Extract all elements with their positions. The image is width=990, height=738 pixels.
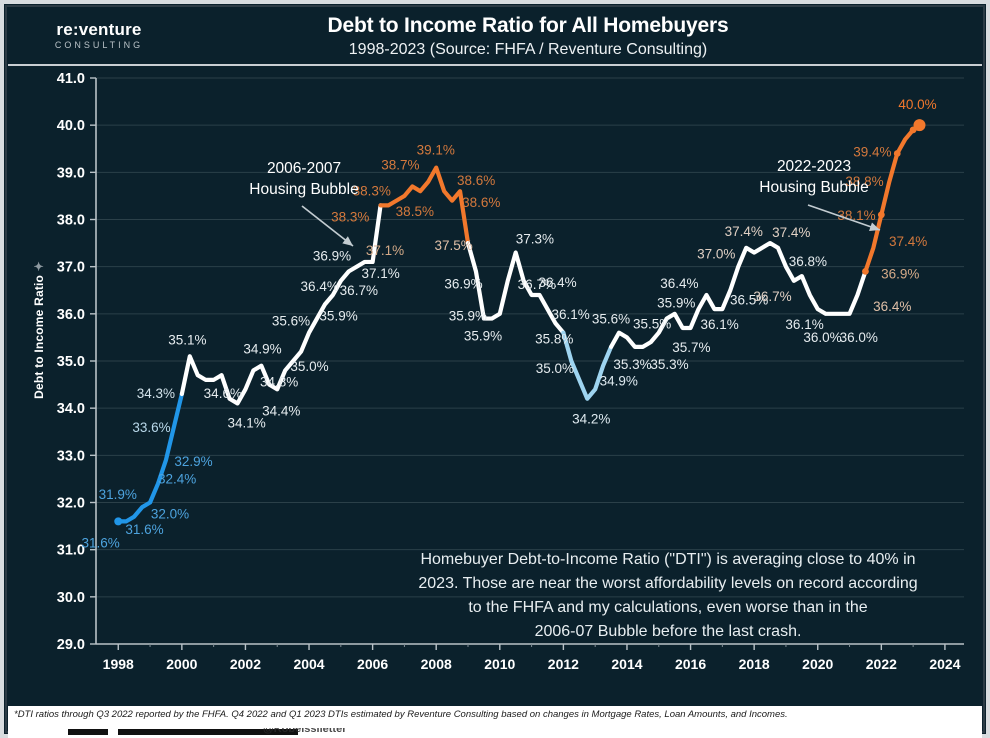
data-point-label: 37.4% xyxy=(889,234,927,249)
y-axis-tick-label: 33.0 xyxy=(57,448,85,464)
data-point-label: 36.1% xyxy=(552,307,590,322)
data-point-label: 36.7% xyxy=(340,283,378,298)
y-axis-tick-label: 38.0 xyxy=(57,213,85,229)
data-point-label: 31.6% xyxy=(125,522,163,537)
data-point-label: 35.0% xyxy=(536,361,574,376)
data-point-label: 36.4% xyxy=(873,299,911,314)
data-point-label: 36.9% xyxy=(881,266,919,281)
data-point-label: 32.4% xyxy=(158,472,196,487)
footnote: *DTI ratios through Q3 2022 reported by … xyxy=(8,706,982,730)
data-point-marker xyxy=(894,150,901,157)
data-point-label: 39.4% xyxy=(853,144,891,159)
data-point-label: 35.3% xyxy=(650,357,688,372)
data-point-label: 35.9% xyxy=(319,309,357,324)
y-axis-tick-label: 41.0 xyxy=(57,71,85,87)
data-point-label: 38.5% xyxy=(396,204,434,219)
data-point-label: 36.4% xyxy=(301,279,339,294)
chart-screenshot: re:venture CONSULTING Debt to Income Rat… xyxy=(0,0,990,738)
data-point-label: 35.9% xyxy=(464,329,502,344)
x-axis-tick-label: 2018 xyxy=(739,656,770,672)
title-block: Debt to Income Ratio for All Homebuyers … xyxy=(178,14,878,60)
x-axis-tick-label: 1998 xyxy=(103,656,134,672)
data-point-label: 35.3% xyxy=(613,357,651,372)
callout-line: 2006-07 Bubble before the last crash. xyxy=(535,623,802,640)
data-point-label: 34.4% xyxy=(262,403,300,418)
logo-tagline: CONSULTING xyxy=(24,41,174,50)
x-axis-tick-label: 2004 xyxy=(293,656,324,672)
data-point-label: 36.9% xyxy=(313,248,351,263)
x-axis-tick-label: 2024 xyxy=(929,656,960,672)
y-axis-tick-label: 30.0 xyxy=(57,590,85,606)
x-axis-tick-label: 2016 xyxy=(675,656,706,672)
y-axis-tick-label: 32.0 xyxy=(57,496,85,512)
data-point-label: 38.6% xyxy=(462,195,500,210)
plot-area: Debt to Income Ratio ✦ 29.030.031.032.03… xyxy=(8,68,982,702)
bottom-partial-strip: @Kobeissiletter xyxy=(8,728,982,738)
data-point-label: 37.1% xyxy=(362,266,400,281)
data-point-label: 35.6% xyxy=(272,314,310,329)
data-point-label: 36.1% xyxy=(701,317,739,332)
data-point-label: 39.1% xyxy=(417,143,455,158)
data-point-label: 37.4% xyxy=(725,224,763,239)
chart-canvas: 29.030.031.032.033.034.035.036.037.038.0… xyxy=(8,68,982,702)
data-point-label: 38.6% xyxy=(457,173,495,188)
data-point-label: 36.0% xyxy=(803,330,841,345)
data-point-label: 33.6% xyxy=(132,420,170,435)
page-subtitle: 1998-2023 (Source: FHFA / Reventure Cons… xyxy=(178,41,878,59)
x-axis-tick-label: 2010 xyxy=(484,656,515,672)
annotation-label-bubble-2022-2: Housing Bubble xyxy=(759,179,868,196)
callout-line: Homebuyer Debt-to-Income Ratio ("DTI") i… xyxy=(420,551,915,568)
y-axis-tick-label: 29.0 xyxy=(57,637,85,653)
data-point-label: 34.6% xyxy=(204,386,242,401)
y-axis-tick-label: 39.0 xyxy=(57,165,85,181)
data-point-label: 36.8% xyxy=(789,254,827,269)
data-point-label: 34.8% xyxy=(260,374,298,389)
data-point-label: 35.9% xyxy=(449,309,487,324)
data-point-label: 31.6% xyxy=(82,535,120,550)
data-point-label: 34.9% xyxy=(600,374,638,389)
callout-line: 2023. Those are near the worst affordabi… xyxy=(418,575,917,592)
data-point-label: 36.4% xyxy=(660,276,698,291)
data-point-marker xyxy=(862,268,869,275)
data-point-label: 35.6% xyxy=(592,312,630,327)
y-axis-tick-label: 40.0 xyxy=(57,118,85,134)
start-point-marker xyxy=(114,517,122,525)
x-axis-tick-label: 2022 xyxy=(866,656,897,672)
y-axis-tick-label: 37.0 xyxy=(57,260,85,276)
chart-header: re:venture CONSULTING Debt to Income Rat… xyxy=(8,8,982,66)
data-point-label: 36.4% xyxy=(538,275,576,290)
x-axis-tick-label: 2012 xyxy=(548,656,579,672)
page-title: Debt to Income Ratio for All Homebuyers xyxy=(178,14,878,38)
x-axis-tick-label: 2006 xyxy=(357,656,388,672)
data-point-label: 31.9% xyxy=(99,487,137,502)
strip-handle-text: @Kobeissiletter xyxy=(263,728,346,735)
data-point-label: 36.0% xyxy=(840,330,878,345)
data-point-label: 35.8% xyxy=(535,331,573,346)
data-point-label: 36.9% xyxy=(444,276,482,291)
x-axis-tick-label: 2000 xyxy=(166,656,197,672)
annotation-label-bubble-2006-2: Housing Bubble xyxy=(249,181,358,198)
reventure-logo: re:venture CONSULTING xyxy=(24,21,174,50)
data-point-label: 37.1% xyxy=(366,243,404,258)
data-point-label: 37.4% xyxy=(772,225,810,240)
data-point-label: 34.9% xyxy=(243,342,281,357)
callout-line: to the FHFA and my calculations, even wo… xyxy=(468,599,867,616)
data-point-label: 40.0% xyxy=(898,97,936,112)
y-axis-tick-label: 34.0 xyxy=(57,401,85,417)
data-point-label: 35.7% xyxy=(672,340,710,355)
data-point-label: 32.0% xyxy=(151,507,189,522)
data-point-label: 38.1% xyxy=(837,208,875,223)
x-axis-tick-label: 2020 xyxy=(802,656,833,672)
y-axis-tick-label: 35.0 xyxy=(57,354,85,370)
data-point-label: 32.9% xyxy=(174,454,212,469)
annotation-label-bubble-2022: 2022-2023 xyxy=(777,158,851,175)
strip-bar-left xyxy=(68,729,108,735)
logo-wordmark: re:venture xyxy=(24,21,174,38)
data-point-label: 37.0% xyxy=(697,247,735,262)
y-axis-tick-label: 36.0 xyxy=(57,307,85,323)
data-point-marker xyxy=(878,211,885,218)
x-axis-tick-label: 2002 xyxy=(230,656,261,672)
data-point-label: 37.3% xyxy=(516,232,554,247)
data-point-label: 34.3% xyxy=(137,386,175,401)
data-point-label: 35.5% xyxy=(633,316,671,331)
x-axis-tick-label: 2014 xyxy=(611,656,642,672)
data-point-label: 38.7% xyxy=(381,157,419,172)
end-point-marker xyxy=(913,119,925,131)
data-point-label: 35.9% xyxy=(657,296,695,311)
data-point-label: 34.2% xyxy=(572,412,610,427)
data-point-label: 35.1% xyxy=(168,332,206,347)
data-point-label: 38.3% xyxy=(331,209,369,224)
data-point-label: 36.7% xyxy=(753,289,791,304)
data-point-label: 37.5% xyxy=(434,238,472,253)
x-axis-tick-label: 2008 xyxy=(421,656,452,672)
data-point-label: 35.0% xyxy=(290,359,328,374)
data-point-label: 34.1% xyxy=(228,415,266,430)
annotation-label-bubble-2006: 2006-2007 xyxy=(267,160,341,177)
